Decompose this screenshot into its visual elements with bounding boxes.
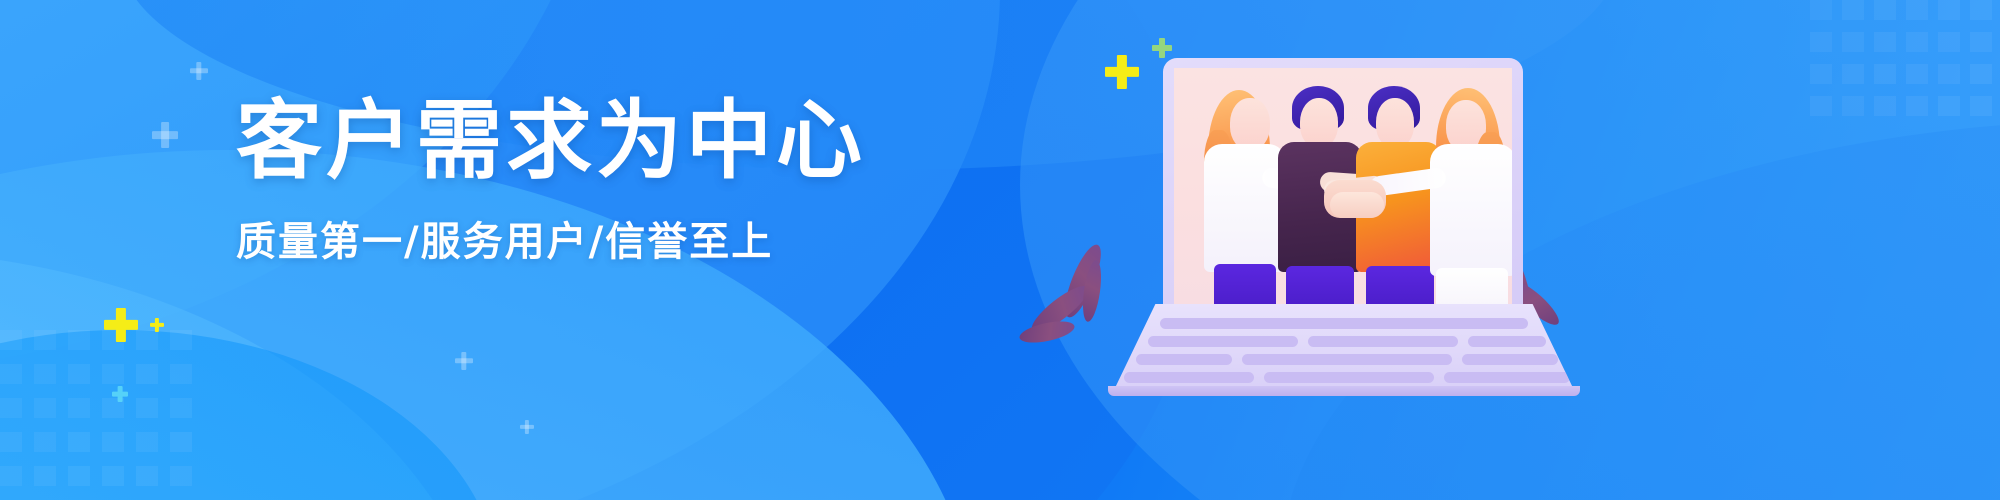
- head-person-1: [1230, 98, 1270, 150]
- keyboard-row-4b: [1264, 372, 1434, 383]
- laptop-screen: [1174, 68, 1512, 308]
- decor-dot-grid-top-right: [1810, 0, 2000, 120]
- headline-block: 客户需求为中心 质量第一/服务用户/信誉至上: [236, 96, 856, 267]
- page-title: 客户需求为中心: [236, 96, 856, 187]
- plus-icon-yellow-bottom-left: [104, 308, 138, 342]
- plus-icon-yellow-small-bottom-left: [150, 318, 164, 332]
- legs-person-3: [1366, 266, 1434, 308]
- keyboard-row-4a: [1124, 372, 1254, 383]
- keyboard-row-2b: [1308, 336, 1458, 347]
- legs-person-1: [1214, 264, 1276, 308]
- keyboard-row-2c: [1468, 336, 1546, 347]
- torso-white-cardigan: [1204, 144, 1286, 272]
- plus-icon-soft-bottom-mid: [520, 420, 534, 434]
- keyboard-row-3a: [1136, 354, 1232, 365]
- keyboard-row-3c: [1462, 354, 1558, 365]
- plus-icon-cyan-bottom-left: [112, 386, 128, 402]
- laptop-keyboard-base: [1114, 304, 1574, 390]
- keyboard-row-4c: [1444, 372, 1570, 383]
- laptop-foot: [1108, 386, 1580, 396]
- plus-icon-soft-top-left: [190, 62, 208, 80]
- promo-banner: 客户需求为中心 质量第一/服务用户/信誉至上: [0, 0, 2000, 500]
- head-person-2: [1300, 98, 1338, 148]
- decor-dot-grid-bottom-left: [0, 330, 220, 500]
- laptop-lid: [1163, 58, 1523, 308]
- keyboard-row-1: [1160, 318, 1528, 329]
- leaf-decor-3: [1018, 317, 1077, 346]
- keyboard-row-2a: [1148, 336, 1298, 347]
- stacked-hands-top: [1330, 192, 1384, 218]
- legs-person-4: [1436, 268, 1508, 308]
- legs-person-2: [1286, 266, 1354, 308]
- laptop-team-illustration: [1108, 46, 1608, 466]
- plus-icon-soft-lower-left: [455, 352, 473, 370]
- torso-white-blouse: [1430, 144, 1512, 276]
- background-wave-pale-two: [0, 250, 490, 500]
- page-subtitle: 质量第一/服务用户/信誉至上: [236, 209, 856, 267]
- keyboard-row-3b: [1242, 354, 1452, 365]
- background-wave-streak: [0, 330, 500, 500]
- head-person-3: [1376, 98, 1414, 148]
- plus-icon-soft-mid-left: [152, 122, 178, 148]
